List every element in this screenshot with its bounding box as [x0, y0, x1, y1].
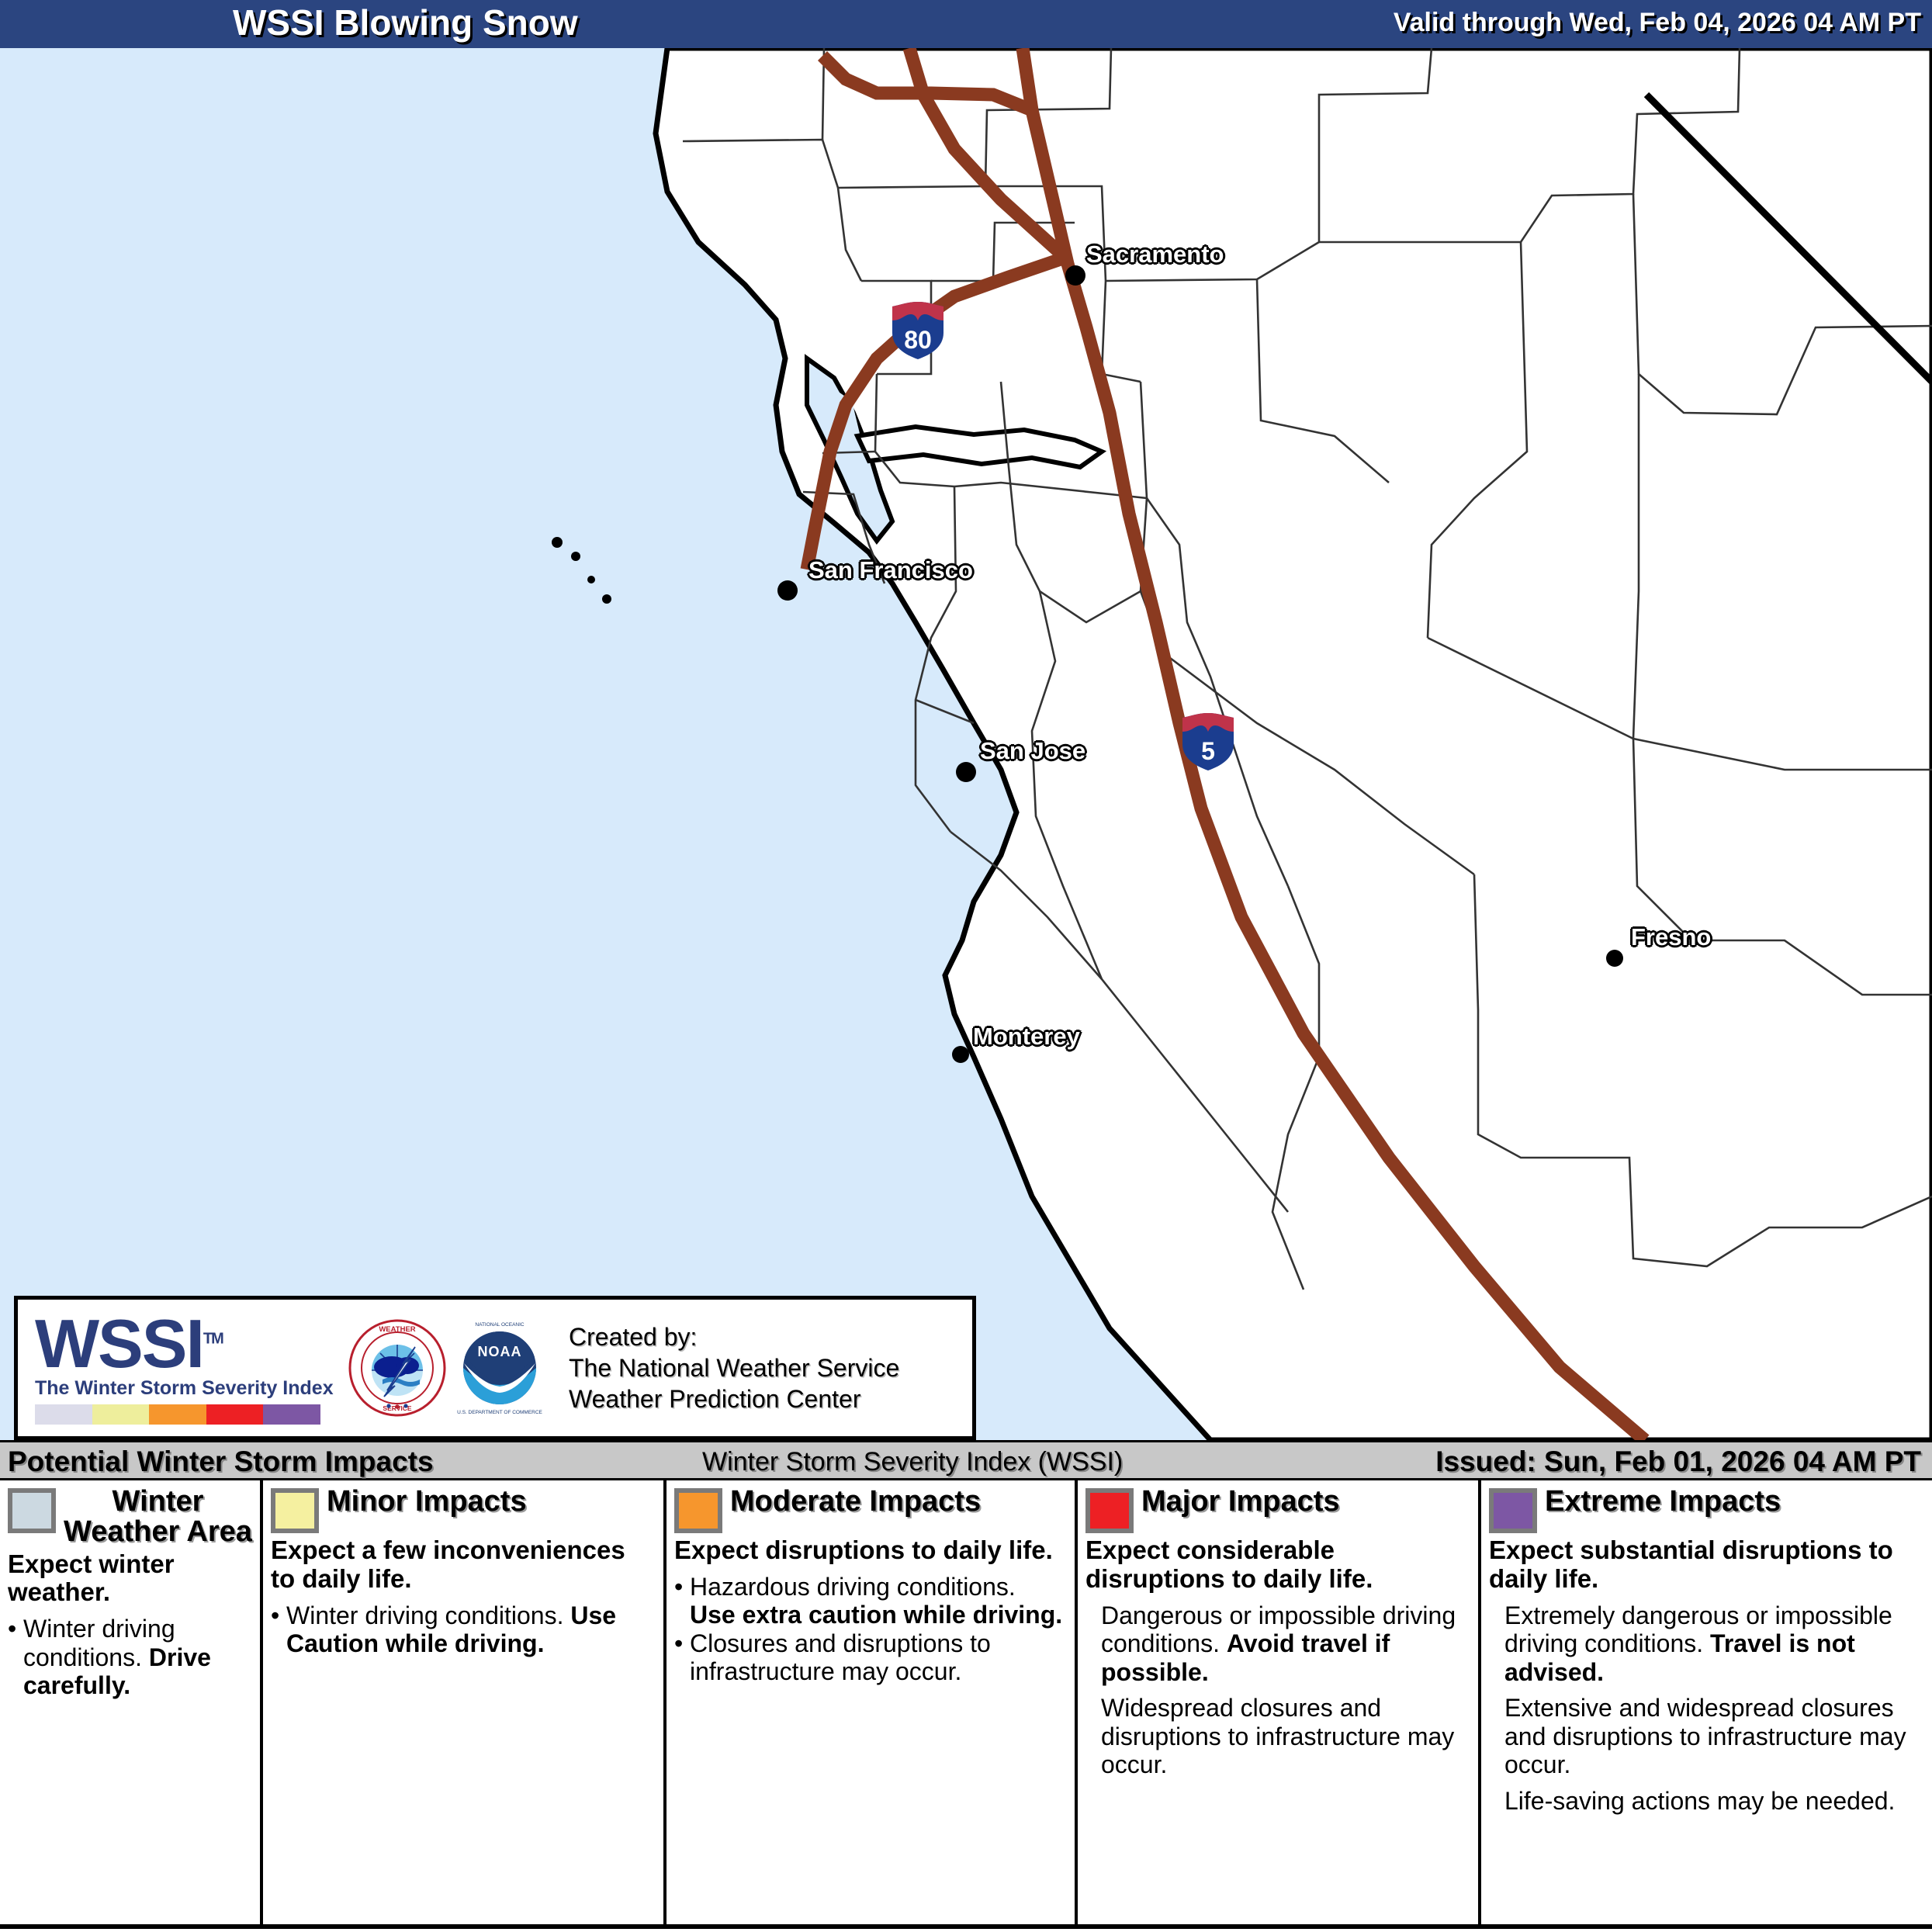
page-title: WSSI Blowing Snow: [233, 2, 578, 43]
impacts-summary-bar: Potential Winter Storm Impacts Winter St…: [0, 1440, 1932, 1480]
legend-item: • Winter driving conditions. Drive caref…: [8, 1615, 252, 1699]
legend-title-minor-impacts: Minor Impacts: [327, 1487, 527, 1517]
legend-item-text: Life-saving actions may be needed.: [1504, 1787, 1895, 1815]
valid-through-label: Valid through Wed, Feb 04, 2026 04 AM PT: [1394, 8, 1921, 38]
svg-text:U.S. DEPARTMENT OF COMMERCE: U.S. DEPARTMENT OF COMMERCE: [457, 1410, 542, 1415]
city-dot-sacramento: [1065, 265, 1085, 286]
legend-item: Dangerous or impossible driving conditio…: [1085, 1601, 1470, 1686]
wssi-bar-moderate: [149, 1404, 206, 1425]
agency-logos: WEATHER SERVICE NOAA NATIONAL OCEANIC U.…: [348, 1319, 549, 1417]
city-dot-monterey: [952, 1046, 969, 1063]
svg-text:WEATHER: WEATHER: [379, 1325, 415, 1334]
city-dot-san-jose: [956, 762, 976, 782]
city-label-monterey: Monterey: [973, 1023, 1080, 1051]
legend-swatch-winter-weather-area: [8, 1488, 56, 1533]
legend-title-major-impacts: Major Impacts: [1141, 1487, 1340, 1517]
legend-subtitle-winter-weather-area: Expect winter weather.: [8, 1550, 252, 1608]
wssi-attribution-box: WSSITM The Winter Storm Severity Index: [14, 1296, 976, 1440]
wssi-map-page: WSSI Blowing Snow Valid through Wed, Feb…: [0, 0, 1932, 1932]
wssi-color-bar: [35, 1404, 320, 1425]
impact-legend: Winter Weather Area Expect winter weathe…: [0, 1480, 1932, 1929]
bullet-icon: •: [8, 1615, 23, 1699]
svg-text:80: 80: [904, 326, 932, 354]
legend-column-moderate-impacts[interactable]: Moderate Impacts Expect disruptions to d…: [663, 1480, 1075, 1924]
legend-subtitle-minor-impacts: Expect a few inconveniences to daily lif…: [271, 1536, 656, 1594]
legend-title-extreme-impacts: Extreme Impacts: [1545, 1487, 1781, 1517]
legend-column-extreme-impacts[interactable]: Extreme Impacts Expect substantial disru…: [1478, 1480, 1932, 1924]
city-label-san-francisco: San Francisco: [808, 556, 973, 584]
legend-subtitle-moderate-impacts: Expect disruptions to daily life.: [674, 1536, 1067, 1565]
wssi-bar-winter-weather: [35, 1404, 92, 1425]
wssi-bar-minor: [92, 1404, 150, 1425]
page-header: WSSI Blowing Snow Valid through Wed, Feb…: [0, 0, 1932, 48]
svg-text:NATIONAL OCEANIC: NATIONAL OCEANIC: [475, 1322, 525, 1328]
bullet-icon: •: [271, 1601, 286, 1658]
wssi-bar-extreme: [263, 1404, 320, 1425]
interstate-shield-5: 5: [1181, 712, 1235, 772]
wssi-bar-major: [206, 1404, 264, 1425]
bullet-icon: •: [674, 1629, 690, 1686]
legend-item-text: Extensive and widespread closures and di…: [1504, 1694, 1906, 1778]
legend-item: • Winter driving conditions. Use Caution…: [271, 1601, 656, 1658]
created-by-line-1: Created by:: [569, 1321, 899, 1352]
city-dot-san-francisco: [777, 580, 798, 601]
potential-impacts-label: Potential Winter Storm Impacts: [8, 1446, 434, 1478]
wssi-acronym: WSSI: [35, 1305, 203, 1382]
legend-swatch-minor-impacts: [271, 1488, 319, 1533]
created-by-line-2: The National Weather Service: [569, 1352, 899, 1383]
legend-item: • Closures and disruptions to infrastruc…: [674, 1629, 1067, 1686]
legend-item-text: Widespread closures and disruptions to i…: [1101, 1694, 1454, 1778]
created-by-block: Created by: The National Weather Service…: [569, 1321, 899, 1414]
legend-item-text: Closures and disruptions to infrastructu…: [690, 1629, 991, 1685]
issued-label: Issued: Sun, Feb 01, 2026 04 AM PT: [1435, 1446, 1921, 1478]
legend-swatch-major-impacts: [1085, 1488, 1134, 1533]
bullet-icon: •: [674, 1573, 690, 1629]
legend-column-winter-weather-area[interactable]: Winter Weather Area Expect winter weathe…: [0, 1480, 260, 1924]
created-by-line-3: Weather Prediction Center: [569, 1383, 899, 1414]
legend-item: Extensive and widespread closures and di…: [1489, 1694, 1924, 1778]
legend-title-moderate-impacts: Moderate Impacts: [730, 1487, 981, 1517]
legend-swatch-extreme-impacts: [1489, 1488, 1537, 1533]
city-label-san-jose: San Jose: [980, 737, 1085, 765]
legend-column-major-impacts[interactable]: Major Impacts Expect considerable disrup…: [1075, 1480, 1478, 1924]
map-graphic: [0, 48, 1932, 1440]
city-label-fresno: Fresno: [1631, 923, 1711, 951]
interstate-shield-80: 80: [891, 300, 945, 361]
legend-item-text: Hazardous driving conditions.: [690, 1573, 1016, 1601]
legend-subtitle-major-impacts: Expect considerable disruptions to daily…: [1085, 1536, 1470, 1594]
legend-item-bold: Use extra caution while driving.: [690, 1601, 1062, 1629]
wssi-logo: WSSITM The Winter Storm Severity Index: [18, 1311, 344, 1425]
legend-title-winter-weather-area: Winter Weather Area: [64, 1487, 252, 1547]
legend-item: Widespread closures and disruptions to i…: [1085, 1694, 1470, 1778]
wssi-subtitle: The Winter Storm Severity Index: [35, 1376, 344, 1400]
legend-item: Extremely dangerous or impossible drivin…: [1489, 1601, 1924, 1686]
svg-text:NOAA: NOAA: [478, 1344, 522, 1359]
map-canvas[interactable]: 80 5 Sacramento San Francisco San Jose F…: [0, 48, 1932, 1440]
legend-column-minor-impacts[interactable]: Minor Impacts Expect a few inconvenience…: [260, 1480, 663, 1924]
legend-item: Life-saving actions may be needed.: [1489, 1787, 1924, 1815]
wssi-trademark: TM: [203, 1330, 223, 1347]
noaa-logo-icon: NOAA NATIONAL OCEANIC U.S. DEPARTMENT OF…: [451, 1319, 549, 1417]
legend-item-text: Winter driving conditions.: [286, 1601, 570, 1629]
wssi-fullname-label: Winter Storm Severity Index (WSSI): [702, 1447, 1123, 1477]
city-dot-fresno: [1606, 950, 1623, 967]
legend-swatch-moderate-impacts: [674, 1488, 722, 1533]
national-weather-service-seal-icon: WEATHER SERVICE: [348, 1319, 446, 1417]
city-label-sacramento: Sacramento: [1086, 241, 1224, 268]
legend-subtitle-extreme-impacts: Expect substantial disruptions to daily …: [1489, 1536, 1924, 1594]
svg-text:5: 5: [1201, 737, 1215, 765]
legend-item: • Hazardous driving conditions. Use extr…: [674, 1573, 1067, 1629]
